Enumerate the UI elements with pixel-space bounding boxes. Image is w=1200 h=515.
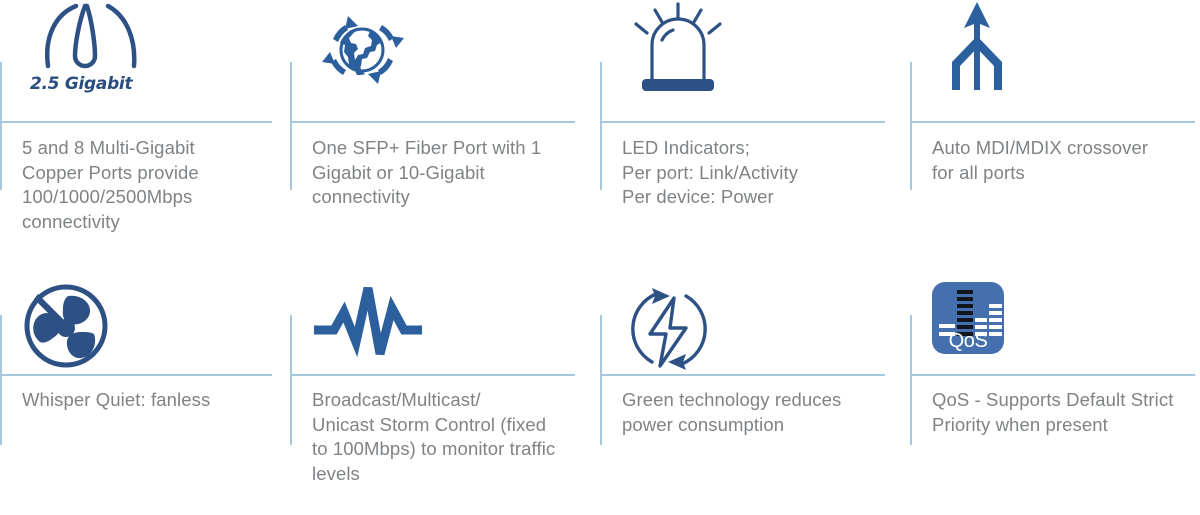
qos-badge-icon: QoS	[932, 282, 1004, 354]
feature-cell-fanless: Whisper Quiet: fanless	[0, 260, 290, 515]
merging-arrow-icon	[932, 0, 1022, 95]
feature-description: Auto MDI/MDIX crossover for all ports	[932, 136, 1200, 185]
multi-gigabit-label: 2.5 Gigabit	[30, 74, 140, 94]
horizontal-divider	[600, 121, 885, 123]
green-power-cycle-icon	[622, 282, 716, 376]
feature-description: Broadcast/Multicast/ Unicast Storm Contr…	[312, 388, 584, 486]
led-beacon-icon	[622, 0, 734, 95]
feature-icon-wrap	[622, 282, 716, 374]
feature-grid: 2.5 Gigabit 5 and 8 Multi-Gigabit Copper…	[0, 0, 1200, 515]
horizontal-divider	[910, 121, 1195, 123]
feature-icon-wrap	[22, 282, 110, 374]
multi-gigabit-word: Gigabit	[65, 74, 132, 94]
horizontal-divider	[0, 121, 272, 123]
feature-cell-storm-control: Broadcast/Multicast/ Unicast Storm Contr…	[290, 260, 600, 515]
feature-icon-wrap	[312, 282, 424, 374]
horizontal-divider	[910, 374, 1195, 376]
vertical-divider	[600, 62, 602, 190]
feature-icon-wrap	[932, 0, 1022, 118]
feature-cell-green-technology: Green technology reduces power consumpti…	[600, 260, 910, 515]
qos-badge-label: QoS	[932, 330, 1004, 353]
feature-cell-led-indicators: LED Indicators; Per port: Link/Activity …	[600, 0, 910, 260]
horizontal-divider	[290, 121, 575, 123]
multi-gigabit-icon	[22, 0, 140, 72]
feature-cell-sfp-fiber: One SFP+ Fiber Port with 1 Gigabit or 10…	[290, 0, 600, 260]
feature-description: QoS - Supports Default Strict Priority w…	[932, 388, 1200, 437]
feature-description: LED Indicators; Per port: Link/Activity …	[622, 136, 894, 210]
feature-icon-wrap	[312, 0, 412, 118]
no-fan-icon	[22, 282, 110, 370]
feature-cell-auto-mdix: Auto MDI/MDIX crossover for all ports	[910, 0, 1200, 260]
vertical-divider	[290, 315, 292, 445]
multi-gigabit-number: 2.5	[30, 74, 59, 94]
feature-description: One SFP+ Fiber Port with 1 Gigabit or 10…	[312, 136, 584, 210]
feature-icon-wrap: 2.5 Gigabit	[22, 0, 140, 118]
feature-description: 5 and 8 Multi-Gigabit Copper Ports provi…	[22, 136, 277, 234]
vertical-divider	[600, 315, 602, 445]
vertical-divider	[0, 315, 2, 445]
globe-refresh-icon	[312, 0, 412, 100]
horizontal-divider	[0, 374, 272, 376]
horizontal-divider	[290, 374, 575, 376]
feature-description: Whisper Quiet: fanless	[22, 388, 277, 413]
vertical-divider	[0, 62, 2, 190]
feature-icon-wrap	[622, 0, 734, 118]
vertical-divider	[290, 62, 292, 190]
feature-description: Green technology reduces power consumpti…	[622, 388, 894, 437]
waveform-icon	[312, 282, 424, 360]
feature-cell-qos: QoS QoS - Supports Default Strict Priori…	[910, 260, 1200, 515]
vertical-divider	[910, 315, 912, 445]
feature-icon-wrap: QoS	[932, 282, 1004, 374]
vertical-divider	[910, 62, 912, 190]
feature-cell-multi-gigabit: 2.5 Gigabit 5 and 8 Multi-Gigabit Copper…	[0, 0, 290, 260]
